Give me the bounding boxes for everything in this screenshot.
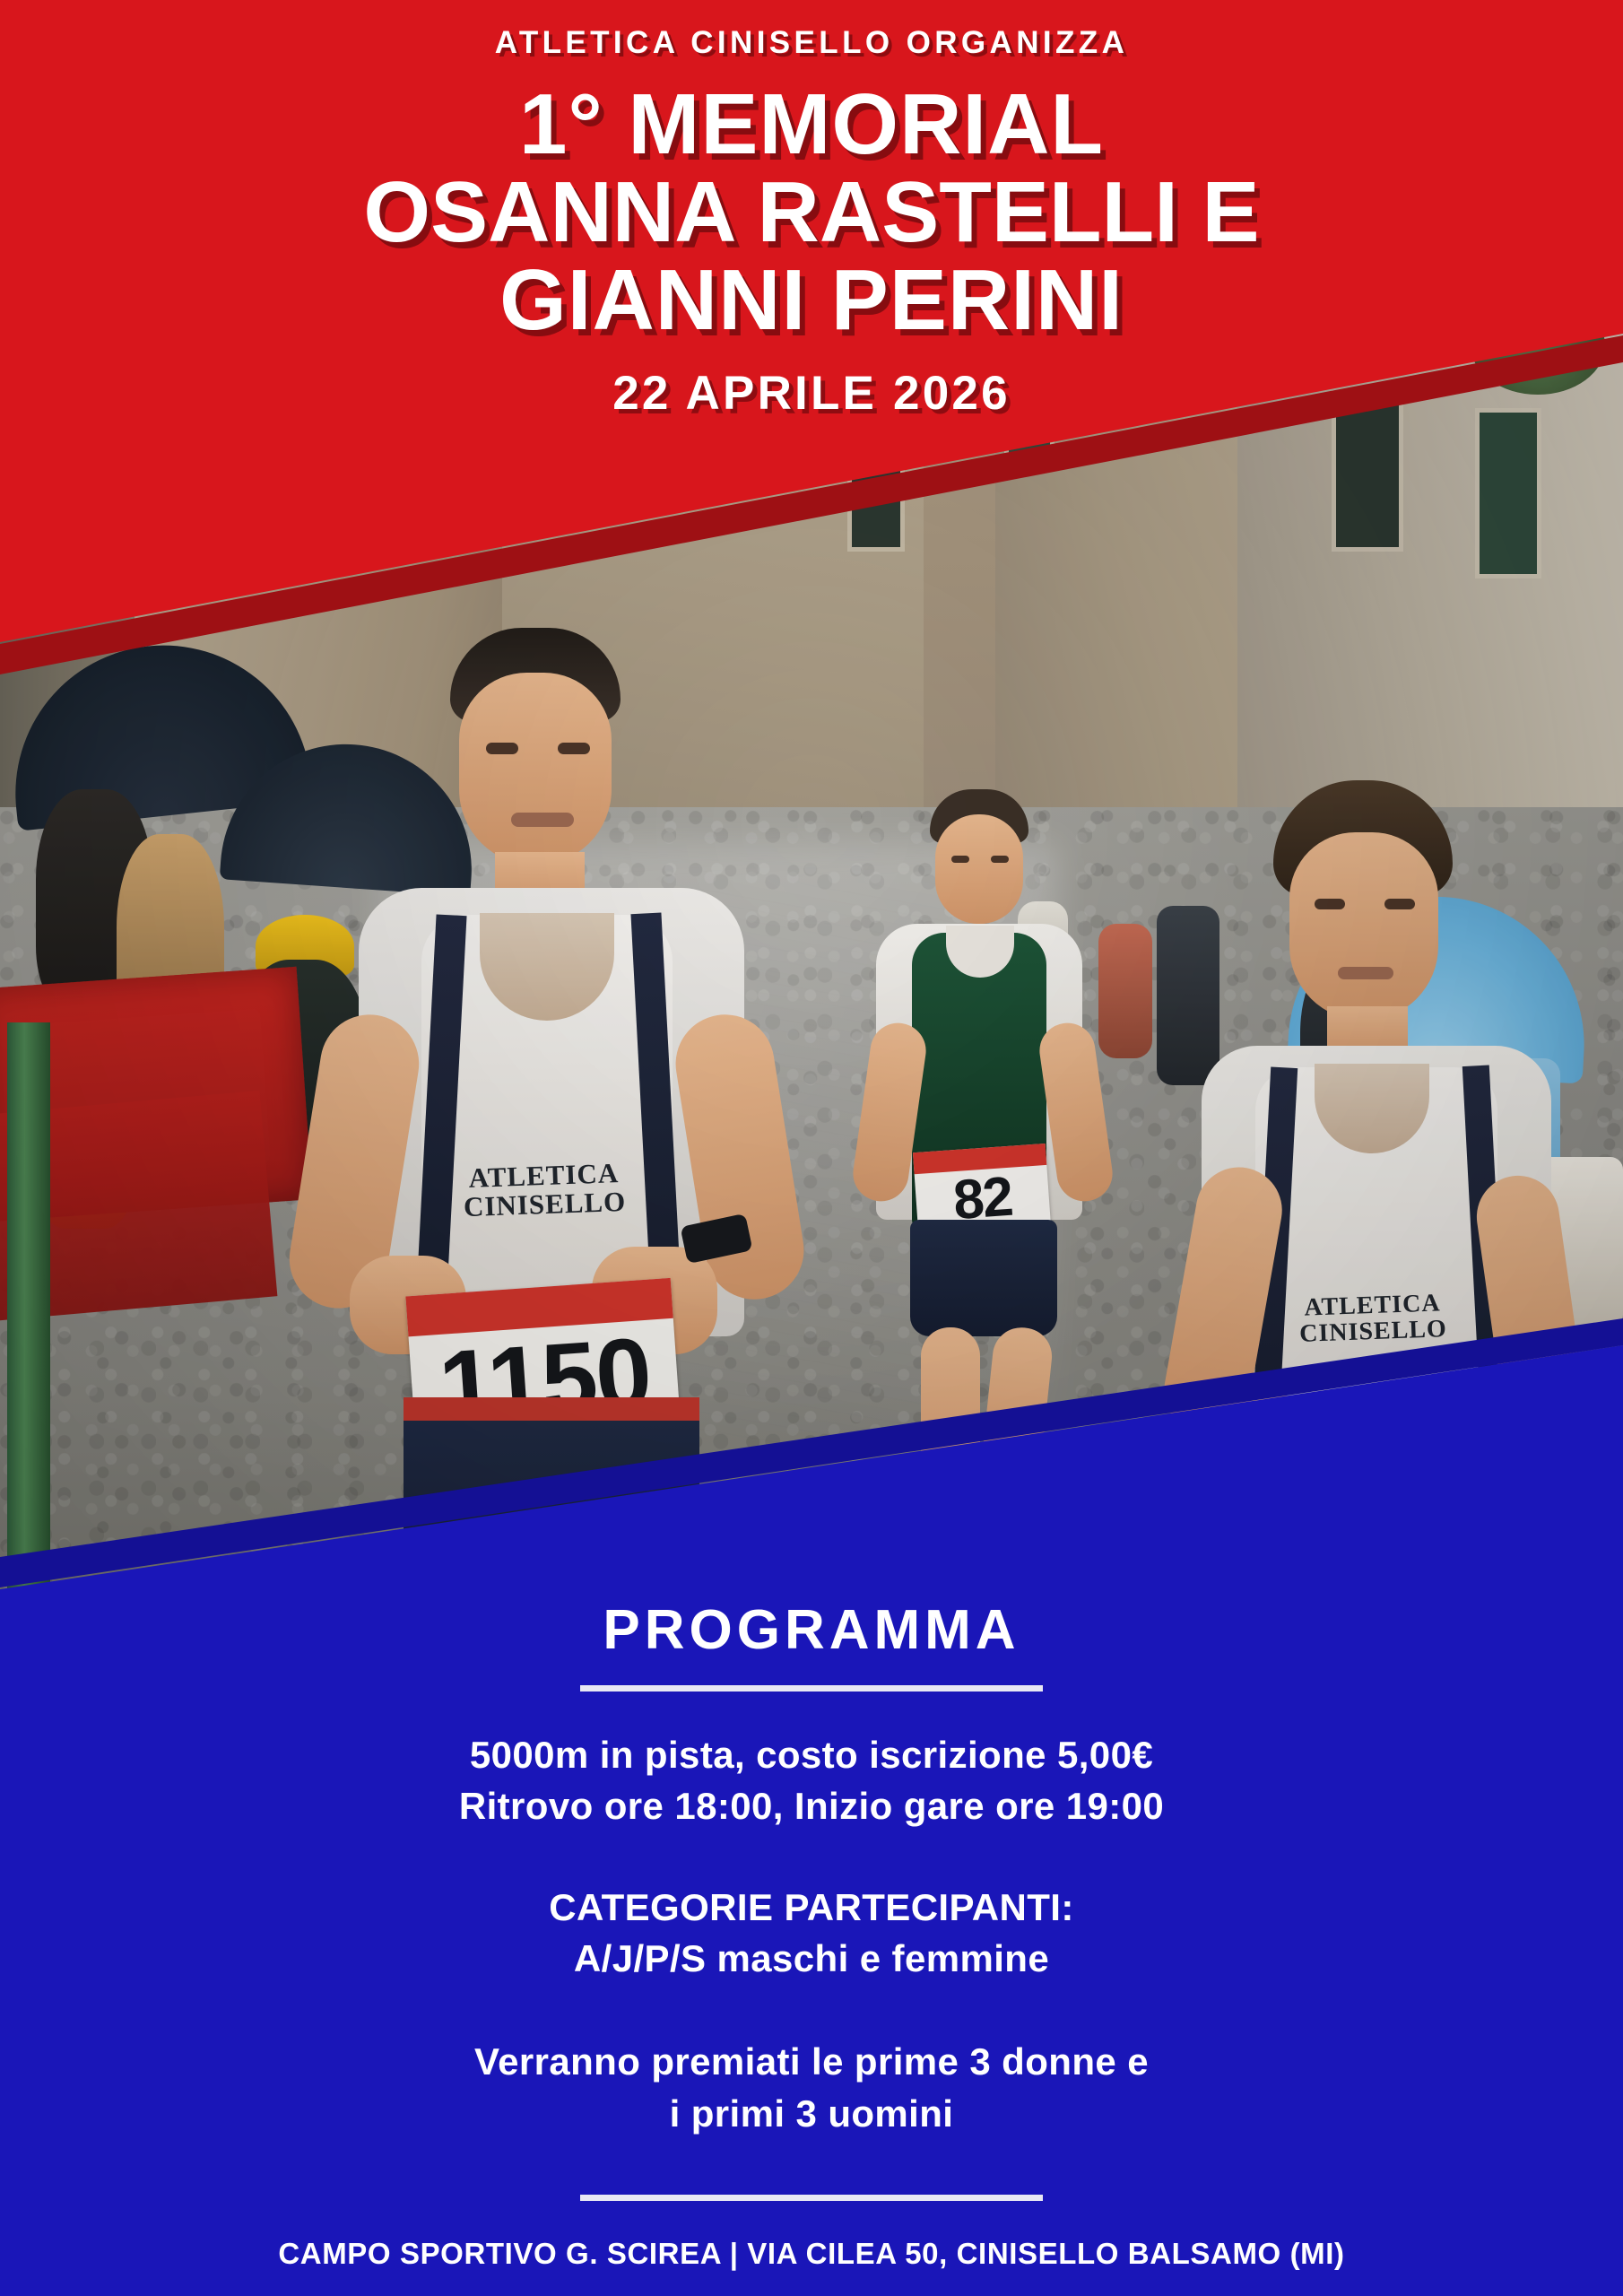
race-details: 5000m in pista, costo iscrizione 5,00€ R… <box>0 1729 1623 1831</box>
prizes-line-2: i primi 3 uomini <box>0 2088 1623 2139</box>
title-line-2: OSANNA RASTELLI E <box>0 169 1623 257</box>
program-heading: PROGRAMMA <box>0 1598 1623 1662</box>
divider-bottom-wrap <box>0 2195 1623 2201</box>
race-detail-line-2: Ritrovo ore 18:00, Inizio gare ore 19:00 <box>0 1780 1623 1831</box>
runner-eye <box>1384 899 1415 909</box>
divider-bottom <box>580 2195 1043 2201</box>
runner-face <box>459 673 612 865</box>
runner-club-line-2: CINISELLO <box>432 1186 657 1222</box>
page-title: 1° MEMORIAL OSANNA RASTELLI E GIANNI PER… <box>0 81 1623 344</box>
runner-shorts <box>910 1220 1057 1336</box>
prizes-line-1: Verranno premiati le prime 3 donne e <box>0 2036 1623 2087</box>
race-detail-line-1: 5000m in pista, costo iscrizione 5,00€ <box>0 1729 1623 1780</box>
runner-eye <box>991 856 1009 863</box>
organizer-kicker: ATLETICA CINISELLO ORGANIZZA <box>0 25 1623 61</box>
runner-eye <box>558 743 590 754</box>
divider-top <box>580 1685 1043 1692</box>
title-line-3: GIANNI PERINI <box>0 257 1623 344</box>
runner-face <box>935 814 1023 924</box>
prizes-block: Verranno premiati le prime 3 donne e i p… <box>0 2036 1623 2138</box>
distant-runner <box>1098 924 1152 1058</box>
poster-header: ATLETICA CINISELLO ORGANIZZA 1° MEMORIAL… <box>0 0 1623 421</box>
runner-mouth <box>511 813 574 827</box>
runner-face <box>1289 832 1438 1021</box>
venue-address: CAMPO SPORTIVO G. SCIREA | VIA CILEA 50,… <box>0 2237 1623 2271</box>
runner-club-text: ATLETICA CINISELLO <box>1269 1290 1477 1348</box>
title-line-1: 1° MEMORIAL <box>0 81 1623 169</box>
window <box>1480 413 1537 574</box>
runner-eye <box>1315 899 1345 909</box>
event-poster: ATLETICA CINISELLO 1150 <box>0 0 1623 2296</box>
runner-mouth <box>1338 967 1393 979</box>
categories-block: CATEGORIE PARTECIPANTI: A/J/P/S maschi e… <box>0 1882 1623 1984</box>
runner-eye <box>951 856 969 863</box>
runner-club-text: ATLETICA CINISELLO <box>431 1158 657 1222</box>
event-date: 22 APRILE 2026 <box>0 366 1623 421</box>
categories-heading: CATEGORIE PARTECIPANTI: <box>0 1882 1623 1933</box>
program-section: PROGRAMMA 5000m in pista, costo iscrizio… <box>0 1345 1623 2296</box>
categories-value: A/J/P/S maschi e femmine <box>0 1933 1623 1984</box>
runner-eye <box>486 743 518 754</box>
